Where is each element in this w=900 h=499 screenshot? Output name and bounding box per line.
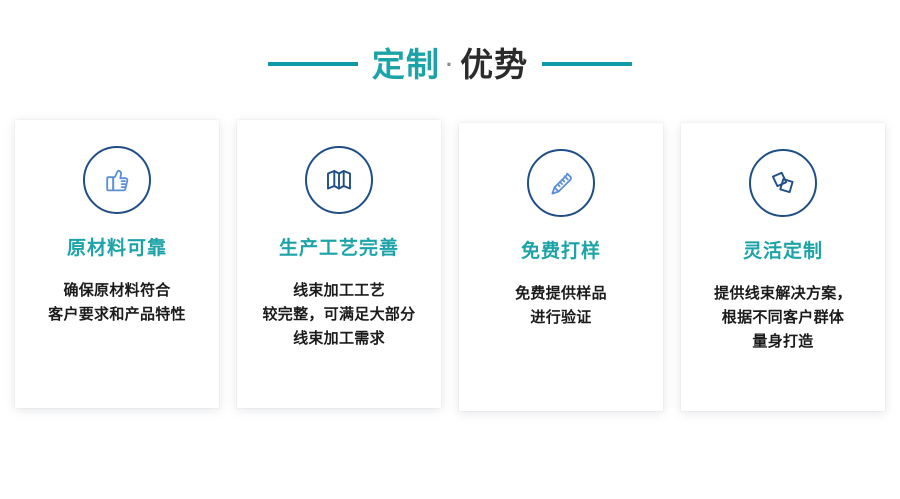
- card-description-line: 免费提供样品: [515, 282, 607, 306]
- feature-card-raw-material[interactable]: 原材料可靠 确保原材料符合 客户要求和产品特性: [15, 120, 219, 408]
- card-description: 线束加工工艺 较完整，可满足大部分 线束加工需求: [262, 279, 415, 352]
- card-description: 提供线束解决方案， 根据不同客户群体 量身打造: [714, 282, 852, 355]
- card-description-line: 客户要求和产品特性: [48, 303, 186, 327]
- card-description: 免费提供样品 进行验证: [515, 282, 607, 331]
- card-title: 原材料可靠: [67, 238, 167, 261]
- pencil-icon: [527, 149, 595, 217]
- thumbs-up-icon: [83, 146, 151, 214]
- card-description-line: 线束加工需求: [262, 327, 415, 351]
- feature-card-production-process[interactable]: 生产工艺完善 线束加工工艺 较完整，可满足大部分 线束加工需求: [237, 120, 441, 408]
- folded-map-icon: [305, 146, 373, 214]
- card-description-line: 确保原材料符合: [48, 279, 186, 303]
- card-description-line: 提供线束解决方案，: [714, 282, 852, 306]
- card-description-line: 线束加工工艺: [262, 279, 415, 303]
- card-description-line: 较完整，可满足大部分: [262, 303, 415, 327]
- feature-card-flexible-custom[interactable]: 灵活定制 提供线束解决方案， 根据不同客户群体 量身打造: [681, 123, 885, 411]
- header-rule-left: [268, 62, 358, 66]
- card-description-line: 进行验证: [515, 306, 607, 330]
- card-description-line: 量身打造: [714, 330, 852, 354]
- page-title-accent: 定制: [372, 48, 440, 81]
- page-title-dark: 优势: [460, 48, 528, 81]
- card-description-line: 根据不同客户群体: [714, 306, 852, 330]
- feature-card-free-sample[interactable]: 免费打样 免费提供样品 进行验证: [459, 123, 663, 411]
- card-description: 确保原材料符合 客户要求和产品特性: [48, 279, 186, 328]
- feature-cards-row: 原材料可靠 确保原材料符合 客户要求和产品特性 生产工艺完善 线束加工工艺 较完…: [0, 120, 900, 460]
- page-title-separator: ·: [443, 54, 457, 76]
- card-title: 免费打样: [521, 241, 601, 264]
- section-header: 定制 · 优势: [0, 0, 900, 120]
- card-title: 生产工艺完善: [279, 238, 399, 261]
- stacked-cards-icon: [749, 149, 817, 217]
- card-title: 灵活定制: [743, 241, 823, 264]
- page-title: 定制 · 优势: [372, 48, 528, 81]
- header-rule-right: [542, 62, 632, 66]
